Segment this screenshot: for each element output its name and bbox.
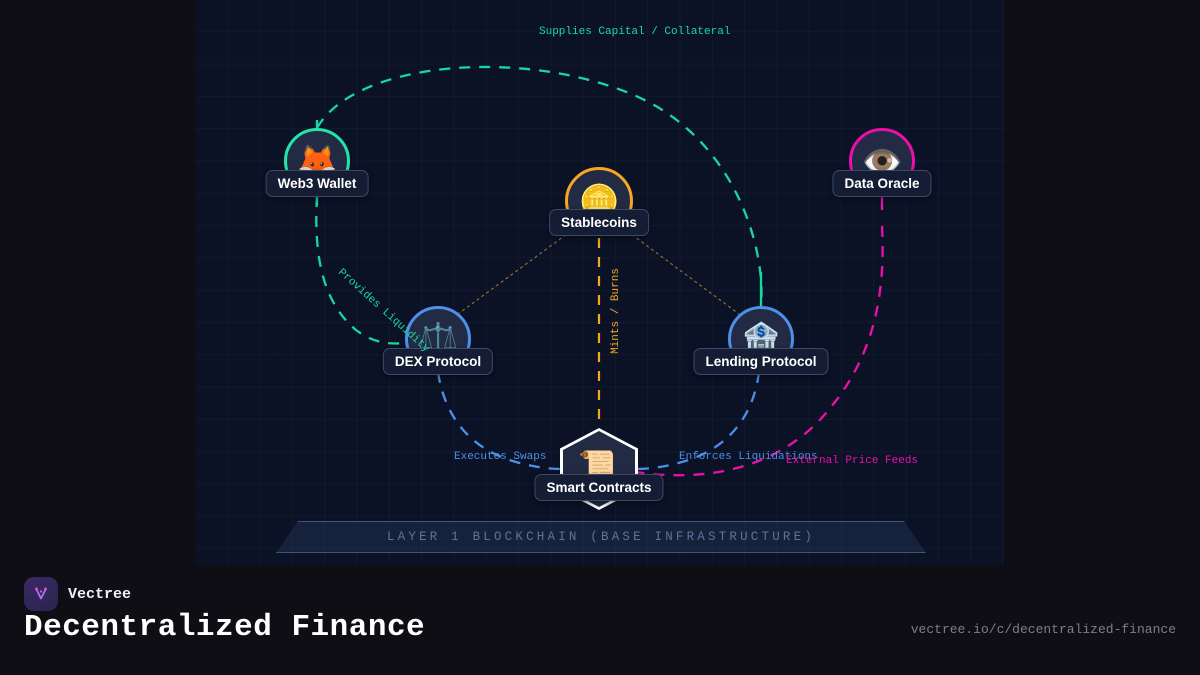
layer-1-banner-label: LAYER 1 BLOCKCHAIN (BASE INFRASTRUCTURE) bbox=[387, 530, 815, 544]
vectree-glyph bbox=[31, 584, 51, 604]
edge-stablecoin-lending bbox=[627, 231, 739, 314]
edge-supplies-capital-collateral bbox=[317, 67, 762, 305]
page-title: Decentralized Finance bbox=[24, 610, 425, 645]
screenshot-root: 🦊 Web3 Wallet 🪙 Stablecoins 👁️ Data Orac… bbox=[0, 0, 1200, 675]
node-smart-contracts[interactable]: 📜 Smart Contracts bbox=[560, 428, 638, 510]
node-label-dex-protocol: DEX Protocol bbox=[383, 348, 493, 375]
footer: Vectree Decentralized Finance vectree.io… bbox=[0, 565, 1200, 675]
node-label-stablecoins: Stablecoins bbox=[549, 209, 649, 236]
vectree-logo-icon bbox=[24, 577, 58, 611]
page-url: vectree.io/c/decentralized-finance bbox=[911, 622, 1176, 637]
edge-label-mints-burns: Mints / Burns bbox=[610, 268, 622, 354]
edge-label-executes-swaps: Executes Swaps bbox=[454, 451, 546, 463]
brand-name: Vectree bbox=[68, 586, 131, 603]
brand[interactable]: Vectree bbox=[24, 577, 131, 611]
node-data-oracle[interactable]: 👁️ Data Oracle bbox=[849, 128, 915, 194]
diagram-canvas[interactable]: 🦊 Web3 Wallet 🪙 Stablecoins 👁️ Data Orac… bbox=[196, 0, 1004, 565]
node-label-web3-wallet: Web3 Wallet bbox=[266, 170, 369, 197]
node-label-smart-contracts: Smart Contracts bbox=[534, 474, 663, 501]
node-label-lending-protocol: Lending Protocol bbox=[694, 348, 829, 375]
node-lending-protocol[interactable]: 🏦 Lending Protocol bbox=[728, 306, 794, 372]
edge-label-external-price-feeds: External Price Feeds bbox=[786, 455, 918, 467]
node-stablecoins[interactable]: 🪙 Stablecoins bbox=[565, 167, 633, 235]
node-label-data-oracle: Data Oracle bbox=[832, 170, 931, 197]
node-web3-wallet[interactable]: 🦊 Web3 Wallet bbox=[284, 128, 350, 194]
edge-stablecoin-dex bbox=[458, 231, 571, 314]
layer-1-banner: LAYER 1 BLOCKCHAIN (BASE INFRASTRUCTURE) bbox=[276, 521, 926, 553]
edge-label-supplies-capital-collateral: Supplies Capital / Collateral bbox=[539, 26, 730, 38]
